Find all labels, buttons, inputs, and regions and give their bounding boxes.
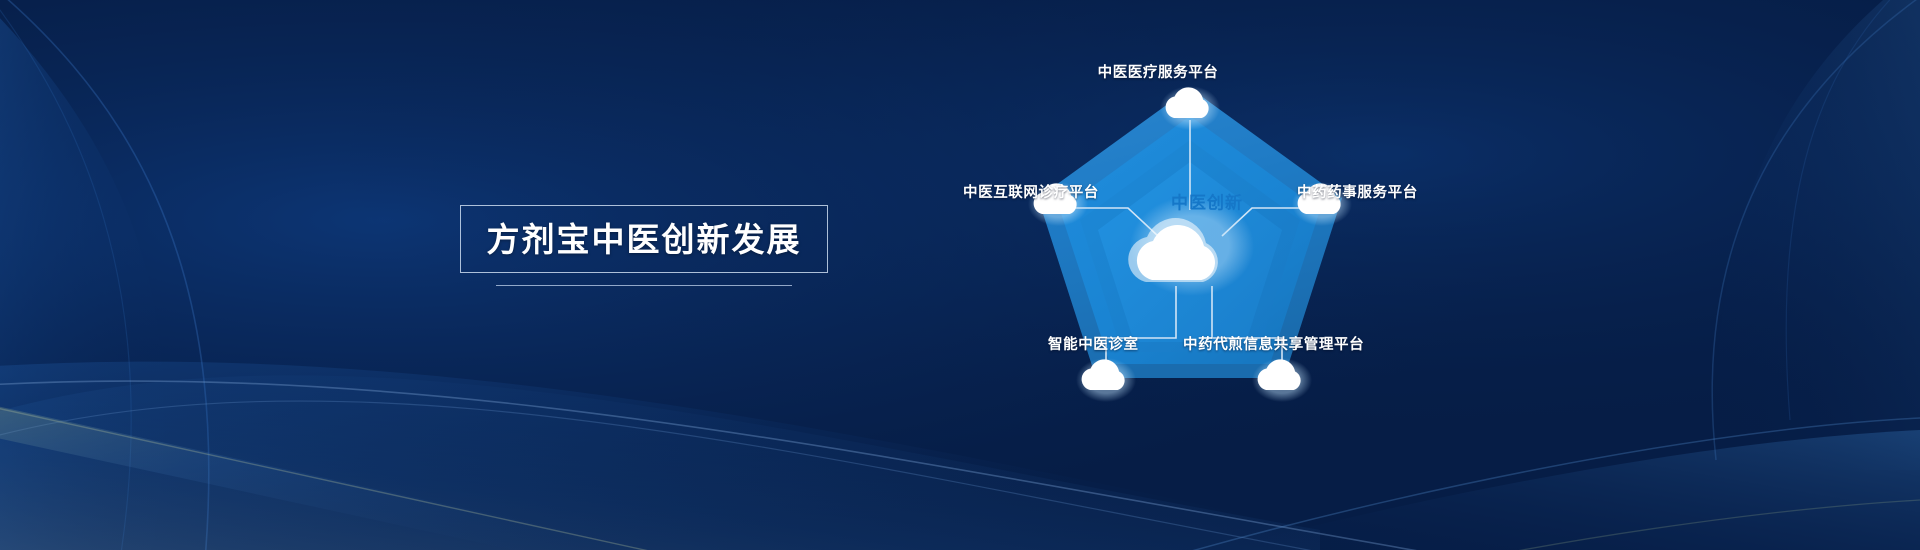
vertex-cloud-bottom-left[interactable] — [1076, 358, 1136, 402]
node-label-right: 中药药事服务平台 — [1297, 186, 1418, 201]
title-frame: 方剂宝中医创新发展 — [460, 205, 828, 273]
center-hub-label: 中医创新 — [1171, 195, 1243, 212]
title-underline — [496, 285, 792, 286]
vertex-cloud-top[interactable] — [1160, 86, 1220, 130]
node-label-left: 中医互联网诊疗平台 — [963, 186, 1099, 201]
node-label-top: 中医医疗服务平台 — [1098, 66, 1219, 81]
title-block: 方剂宝中医创新发展 — [460, 205, 828, 286]
pentagon-diagram — [930, 40, 1450, 420]
page-title: 方剂宝中医创新发展 — [487, 223, 802, 256]
node-label-bottom-left: 智能中医诊室 — [1048, 338, 1139, 353]
pentagon-diagram-svg — [930, 40, 1450, 420]
vertex-cloud-bottom-right[interactable] — [1252, 358, 1312, 402]
node-label-bottom-right: 中药代煎信息共享管理平台 — [1183, 338, 1364, 353]
banner-root: 方剂宝中医创新发展 — [0, 0, 1920, 550]
